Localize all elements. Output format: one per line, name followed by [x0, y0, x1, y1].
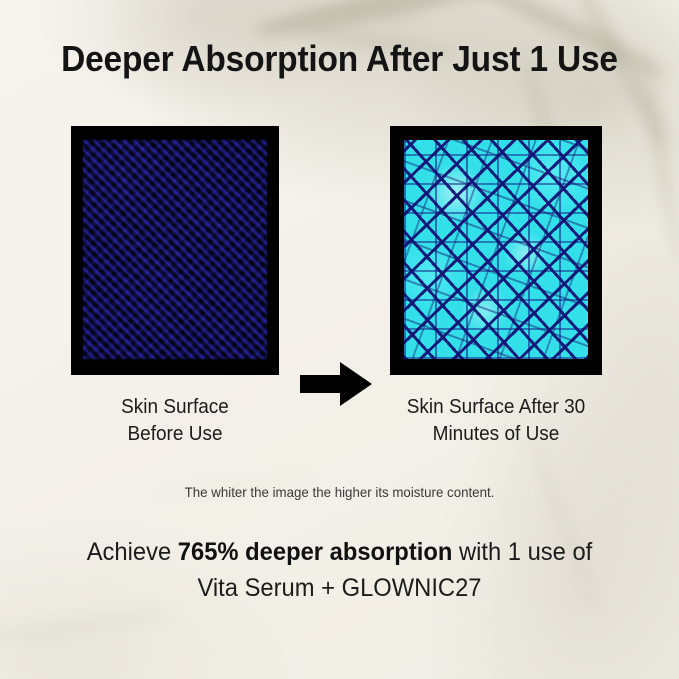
before-caption-line2: Before Use: [47, 421, 304, 448]
arrow-right-icon: [300, 362, 372, 406]
absorption-claim: Achieve 765% deeper absorption with 1 us…: [17, 534, 662, 606]
before-skin-texture-image: [83, 140, 267, 359]
claim-prefix: Achieve: [87, 538, 178, 566]
content-stack: Deeper Absorption After Just 1 Use Skin …: [0, 0, 679, 679]
before-caption: Skin Surface Before Use: [47, 394, 304, 448]
moisture-note: The whiter the image the higher its mois…: [17, 484, 662, 500]
before-image-panel: [71, 126, 279, 375]
product-name: Vita Serum + GLOWNIC27: [17, 570, 662, 606]
page-title: Deeper Absorption After Just 1 Use: [24, 38, 655, 80]
claim-highlight: 765% deeper absorption: [178, 538, 453, 566]
before-caption-line1: Skin Surface: [47, 394, 304, 421]
after-image-panel: [390, 126, 602, 375]
comparison-panels: [0, 126, 679, 376]
after-caption-line1: Skin Surface After 30: [371, 394, 622, 421]
after-skin-texture-image: [404, 140, 588, 359]
claim-suffix: with 1 use of: [452, 538, 592, 566]
infographic-root: Deeper Absorption After Just 1 Use Skin …: [0, 0, 679, 679]
after-caption: Skin Surface After 30 Minutes of Use: [371, 394, 622, 448]
after-caption-line2: Minutes of Use: [371, 421, 622, 448]
